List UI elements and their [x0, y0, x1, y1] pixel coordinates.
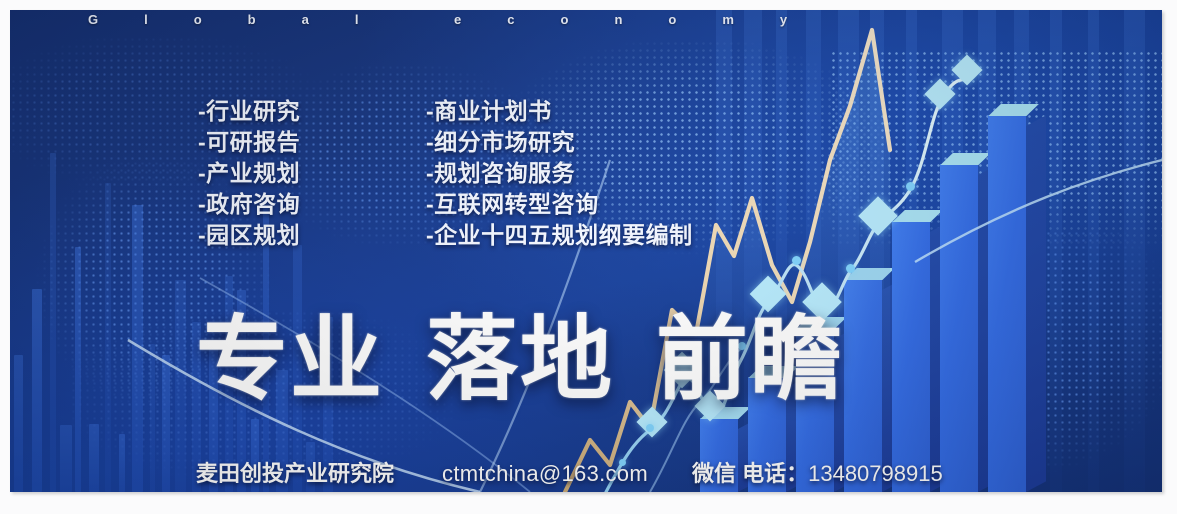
background-column — [1124, 10, 1145, 492]
kicker-global-economy: Global economy — [88, 12, 1098, 27]
service-left-item: -园区规划 — [198, 220, 300, 251]
background-column — [1050, 10, 1062, 492]
line-dot-marker — [906, 182, 915, 191]
line-dot-marker — [792, 256, 801, 265]
bar-b7 — [988, 115, 1026, 492]
headline-word: 前瞻 — [656, 309, 844, 411]
service-right-item: -规划咨询服务 — [426, 158, 693, 189]
bar-side — [930, 221, 950, 492]
background-column — [1014, 10, 1029, 492]
bar-top — [892, 210, 943, 222]
footer-org: 麦田创投产业研究院 — [196, 461, 394, 486]
headline-slogan: 专业落地前瞻 — [196, 308, 844, 412]
line-diamond-marker — [924, 78, 955, 109]
service-list-left: -行业研究-可研报告-产业规划-政府咨询-园区规划 — [198, 96, 300, 251]
equalizer-stripe — [14, 355, 23, 492]
service-right-item: -企业十四五规划纲要编制 — [426, 220, 693, 251]
background-column — [744, 10, 762, 492]
promo-banner: Global economy -行业研究-可研报告-产业规划-政府咨询-园区规划… — [0, 0, 1177, 514]
world-map-dots-east-asia — [830, 50, 1162, 250]
background-column — [716, 10, 732, 492]
bar-top — [844, 268, 895, 280]
background-column — [776, 10, 787, 492]
bar-top — [988, 104, 1039, 116]
service-list-right: -商业计划书-细分市场研究-规划咨询服务-互联网转型咨询-企业十四五规划纲要编制 — [426, 96, 693, 251]
line-diamond-marker — [750, 276, 787, 313]
equalizer-stripe — [75, 247, 81, 492]
sweep-arc-upper-right — [915, 160, 1162, 262]
bar-face — [940, 164, 978, 492]
footer-phone[interactable]: 13480798915 — [808, 461, 943, 486]
bar-side — [1026, 115, 1046, 492]
background-column — [838, 10, 859, 492]
service-right-item: -商业计划书 — [426, 96, 693, 127]
bar-b6 — [940, 164, 978, 492]
background-column — [1088, 10, 1099, 492]
bar-top — [940, 153, 991, 165]
equalizer-stripe — [132, 205, 143, 492]
equalizer-stripe — [175, 280, 186, 492]
headline-word: 专业 — [196, 309, 384, 411]
world-map-dots-oceania — [870, 230, 1162, 492]
banner-stage: Global economy -行业研究-可研报告-产业规划-政府咨询-园区规划… — [10, 10, 1162, 492]
equalizer-stripe — [105, 183, 111, 492]
equalizer-stripe — [89, 424, 99, 492]
equalizer-stripe — [119, 434, 125, 492]
service-left-item: -政府咨询 — [198, 189, 300, 220]
footer-contact-bar: 麦田创投产业研究院ctmtchina@163.com微信 电话：13480798… — [196, 456, 943, 488]
line-dot-marker — [646, 424, 654, 432]
equalizer-stripe — [150, 344, 155, 492]
service-left-item: -行业研究 — [198, 96, 300, 127]
service-left-item: -产业规划 — [198, 158, 300, 189]
service-right-item: -细分市场研究 — [426, 127, 693, 158]
line-diamond-marker — [858, 196, 898, 236]
bar-side — [978, 164, 998, 492]
bar-face — [892, 221, 930, 492]
headline-word: 落地 — [426, 309, 614, 411]
line-diamond-marker — [951, 54, 982, 85]
equalizer-stripe — [50, 153, 56, 492]
line-chart-svg — [10, 10, 1162, 492]
background-columns — [710, 10, 1162, 492]
background-column — [942, 10, 963, 492]
footer-contact-label: 微信 电话： — [692, 461, 808, 486]
background-column — [806, 10, 821, 492]
background-column — [978, 10, 996, 492]
equalizer-stripe — [32, 289, 42, 492]
bar-face — [988, 115, 1026, 492]
background-column — [906, 10, 917, 492]
bar-b5 — [892, 221, 930, 492]
service-left-item: -可研报告 — [198, 127, 300, 158]
line-dot-marker — [846, 264, 855, 273]
footer-email[interactable]: ctmtchina@163.com — [442, 461, 648, 486]
service-right-item: -互联网转型咨询 — [426, 189, 693, 220]
equalizer-stripe — [60, 425, 72, 492]
equalizer-stripe — [162, 355, 170, 492]
background-column — [870, 10, 884, 492]
